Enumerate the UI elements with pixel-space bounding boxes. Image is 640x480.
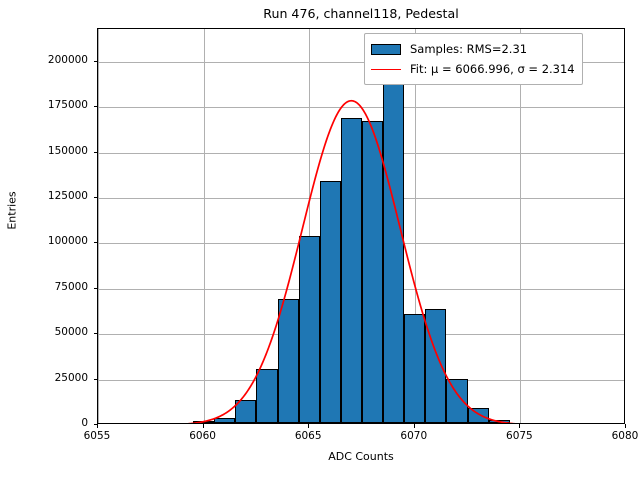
histogram-bar: [383, 74, 404, 423]
chart-legend[interactable]: Samples: RMS=2.31 Fit: μ = 6066.996, σ =…: [364, 33, 583, 85]
y-tick-mark: [94, 152, 98, 153]
x-tick-label: 6065: [278, 430, 338, 442]
histogram-bar: [446, 379, 467, 423]
legend-item-fit[interactable]: Fit: μ = 6066.996, σ = 2.314: [371, 59, 575, 79]
chart-figure: Run 476, channel118, Pedestal 6055606060…: [0, 0, 640, 480]
y-tick-mark: [94, 61, 98, 62]
y-tick-label: 0: [0, 417, 88, 429]
x-tick-mark: [97, 424, 98, 428]
y-tick-label: 25000: [0, 372, 88, 384]
y-tick-mark: [94, 333, 98, 334]
y-tick-label: 175000: [0, 99, 88, 111]
legend-item-samples[interactable]: Samples: RMS=2.31: [371, 39, 575, 59]
x-axis-label: ADC Counts: [97, 450, 625, 463]
gridline-vertical: [520, 29, 521, 423]
legend-patch-icon: [371, 44, 401, 55]
x-tick-label: 6055: [67, 430, 127, 442]
histogram-bar: [299, 236, 320, 423]
x-tick-mark: [519, 424, 520, 428]
histogram-bar: [214, 418, 235, 423]
histogram-bar: [341, 118, 362, 423]
histogram-bar: [320, 181, 341, 423]
histogram-bar: [278, 299, 299, 423]
x-tick-label: 6070: [384, 430, 444, 442]
histogram-bar: [256, 369, 277, 423]
plot-area: [97, 28, 625, 424]
histogram-bar: [193, 421, 214, 423]
histogram-bar: [425, 309, 446, 423]
legend-label-fit: Fit: μ = 6066.996, σ = 2.314: [410, 62, 575, 76]
y-tick-mark: [94, 379, 98, 380]
gridline-vertical: [98, 29, 99, 423]
y-tick-mark: [94, 424, 98, 425]
x-tick-mark: [203, 424, 204, 428]
y-tick-mark: [94, 242, 98, 243]
y-tick-label: 200000: [0, 54, 88, 66]
y-tick-label: 50000: [0, 326, 88, 338]
chart-title: Run 476, channel118, Pedestal: [97, 6, 625, 21]
histogram-bar: [404, 314, 425, 423]
x-tick-label: 6075: [489, 430, 549, 442]
histogram-bar: [362, 121, 383, 423]
histogram-bar: [489, 420, 510, 423]
x-tick-label: 6080: [595, 430, 640, 442]
y-tick-mark: [94, 106, 98, 107]
x-tick-label: 6060: [173, 430, 233, 442]
gridline-horizontal: [98, 107, 624, 108]
y-tick-mark: [94, 197, 98, 198]
histogram-bar: [235, 400, 256, 423]
histogram-bar: [468, 408, 489, 423]
y-axis-label: Entries: [6, 121, 19, 301]
x-tick-mark: [625, 424, 626, 428]
gridline-vertical: [204, 29, 205, 423]
x-tick-mark: [308, 424, 309, 428]
x-tick-mark: [414, 424, 415, 428]
legend-label-samples: Samples: RMS=2.31: [410, 42, 527, 56]
y-tick-mark: [94, 288, 98, 289]
legend-line-icon: [371, 69, 401, 70]
